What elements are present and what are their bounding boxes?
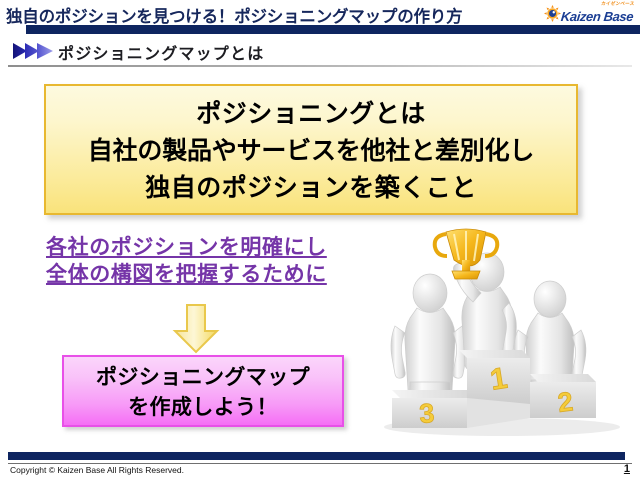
cta-line-1: ポジショニングマップ [64,363,342,393]
cta-line-2: を作成しよう！ [64,393,342,423]
footer-copyright: Copyright © Kaizen Base All Rights Reser… [10,465,184,475]
definition-line-2: 自社の製品やサービスを他社と差別化し [46,133,576,170]
definition-line-1: ポジショニングとは [46,96,576,133]
purpose-line-1: 各社のポジションを明確にし [46,236,327,259]
footer-accent-bar [8,452,625,460]
winners-podium-illustration: 1 2 3 [374,222,636,438]
logo-wordmark: Kaizen Base [560,9,634,24]
footer-page-number: 1 [624,463,630,475]
logo-katakana: カイゼンベース [600,1,634,7]
sun-icon [544,5,561,22]
cta-callout-box: ポジショニングマップ を作成しよう！ [62,355,344,427]
purpose-line-2: 全体の構図を把握するために [46,263,327,286]
triple-chevron-right-icon [12,41,58,61]
section-heading: ポジショニングマップとは [58,40,264,64]
arrow-down-icon [169,303,223,355]
slide-canvas: 独自のポジションを見つける！ポジショニングマップの作り方 カイゼンベース Kai… [0,0,640,480]
kaizen-base-logo: カイゼンベース Kaizen Base [540,1,636,27]
definition-text: ポジショニングとは 自社の製品やサービスを他社と差別化し 独自のポジションを築く… [46,96,576,207]
page-title: 独自のポジションを見つける！ポジショニングマップの作り方 [6,3,462,27]
definition-callout-box: ポジショニングとは 自社の製品やサービスを他社と差別化し 独自のポジションを築く… [44,84,578,215]
section-divider [8,65,632,67]
footer-divider [8,463,632,464]
podium-label-3: 3 [418,398,435,429]
definition-line-3: 独自のポジションを築くこと [46,170,576,207]
purpose-text: 各社のポジションを明確にし 全体の構図を把握するために [46,234,327,288]
cta-text: ポジショニングマップ を作成しよう！ [64,363,342,423]
header-accent-bar [26,25,640,34]
